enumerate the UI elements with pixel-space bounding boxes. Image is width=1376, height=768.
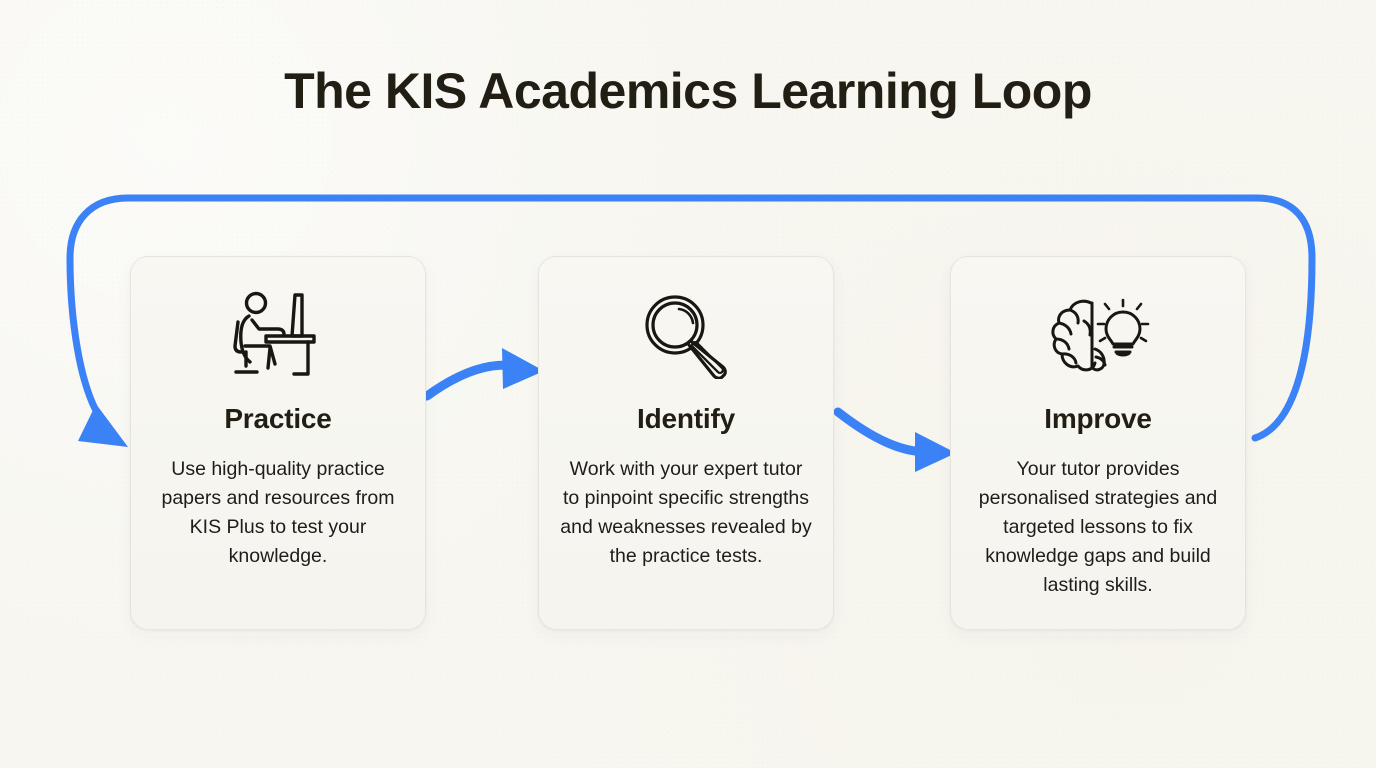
card-heading-improve: Improve bbox=[1044, 403, 1152, 435]
diagram-canvas: The KIS Academics Learning Loop bbox=[0, 0, 1376, 768]
step-card-improve[interactable]: Improve Your tutor provides personalised… bbox=[950, 256, 1246, 630]
brain-lightbulb-icon bbox=[1043, 289, 1153, 381]
card-body-improve: Your tutor provides personalised strateg… bbox=[967, 455, 1229, 600]
curved-arrow-right-icon-1 bbox=[427, 348, 544, 396]
card-heading-identify: Identify bbox=[637, 403, 735, 435]
step-card-practice[interactable]: Practice Use high-quality practice paper… bbox=[130, 256, 426, 630]
page-title: The KIS Academics Learning Loop bbox=[0, 62, 1376, 120]
person-at-desk-icon bbox=[226, 289, 330, 381]
curved-arrow-right-icon-2 bbox=[838, 412, 956, 472]
magnifying-glass-icon bbox=[638, 289, 734, 381]
card-heading-practice: Practice bbox=[224, 403, 331, 435]
card-body-practice: Use high-quality practice papers and res… bbox=[151, 455, 405, 571]
card-body-identify: Work with your expert tutor to pinpoint … bbox=[559, 455, 813, 571]
step-card-identify[interactable]: Identify Work with your expert tutor to … bbox=[538, 256, 834, 630]
